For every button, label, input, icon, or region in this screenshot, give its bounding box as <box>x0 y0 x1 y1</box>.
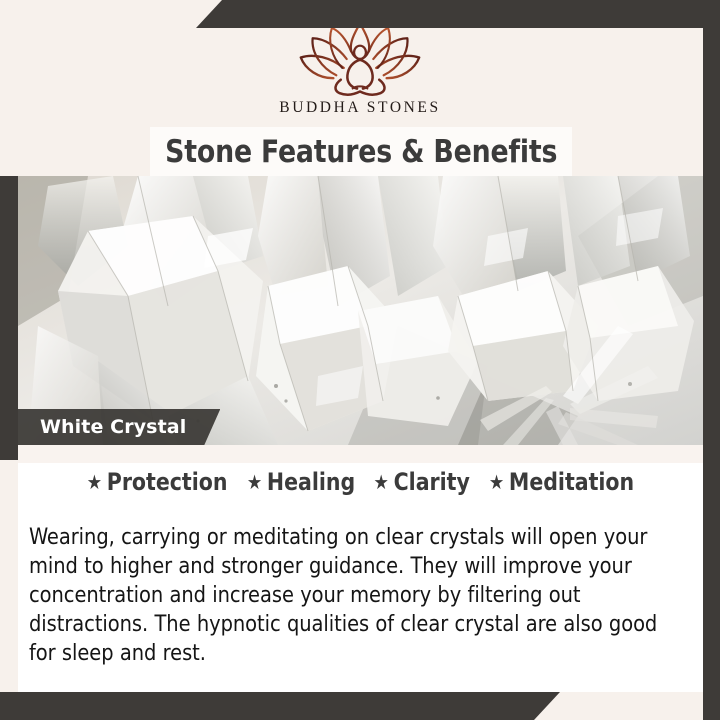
brand-name: BUDDHA STONES <box>0 100 720 116</box>
benefit-label: Clarity <box>394 468 470 496</box>
page-title: Stone Features & Benefits <box>165 134 557 170</box>
frame-accent-top <box>196 0 720 28</box>
benefit-item-clarity: ★ Clarity <box>373 468 469 496</box>
image-caption-badge: White Crystal <box>18 409 220 445</box>
frame-accent-bottom <box>0 692 560 720</box>
benefit-label: Protection <box>107 468 228 496</box>
star-icon: ★ <box>247 472 262 492</box>
crystal-cluster-photo <box>18 176 703 445</box>
lotus-meditation-logo-icon <box>284 22 436 96</box>
star-icon: ★ <box>86 472 101 492</box>
benefit-item-healing: ★ Healing <box>247 468 355 496</box>
benefits-list: ★ Protection ★ Healing ★ Clarity ★ Medit… <box>18 463 703 501</box>
frame-accent-right <box>703 0 720 720</box>
hero-image: White Crystal <box>18 176 703 445</box>
description-text: Wearing, carrying or meditating on clear… <box>29 523 671 668</box>
star-icon: ★ <box>373 472 388 492</box>
stone-info-card: BUDDHA STONES Stone Features & Benefits <box>0 0 720 720</box>
benefit-item-protection: ★ Protection <box>86 468 227 496</box>
star-icon: ★ <box>489 472 504 492</box>
frame-accent-left <box>0 176 18 460</box>
content-panel: ★ Protection ★ Healing ★ Clarity ★ Medit… <box>18 463 703 692</box>
brand-logo: BUDDHA STONES <box>0 22 720 116</box>
image-caption-text: White Crystal <box>40 416 186 438</box>
benefit-label: Meditation <box>509 468 634 496</box>
benefit-item-meditation: ★ Meditation <box>489 468 634 496</box>
benefit-label: Healing <box>267 468 355 496</box>
divider-strip <box>18 445 703 463</box>
page-title-box: Stone Features & Benefits <box>150 127 572 176</box>
